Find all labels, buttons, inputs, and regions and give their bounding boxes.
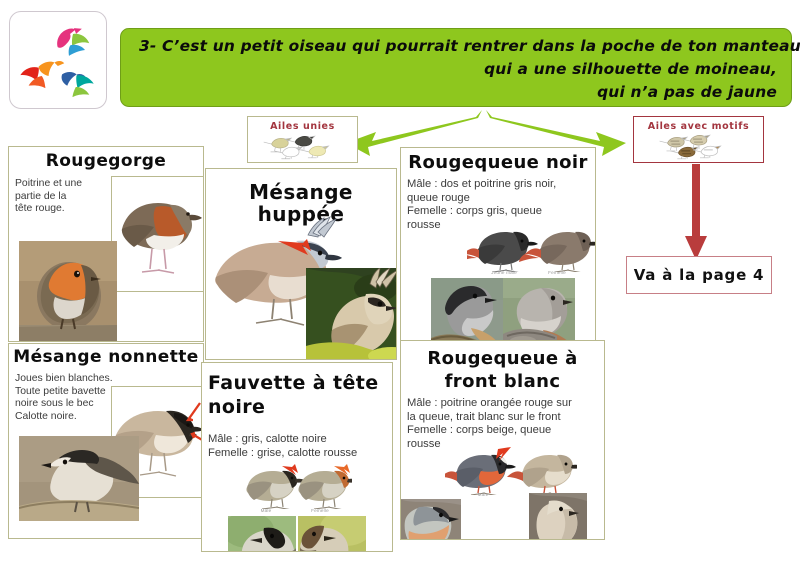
fauvette-male-photo	[228, 516, 296, 552]
fauvette-female-photo	[298, 516, 366, 552]
illustration-frame	[111, 176, 204, 292]
red-down-arrow	[683, 164, 709, 262]
species-description: Joues bien blanches. Toute petite bavett…	[15, 373, 125, 423]
rougegorge-photo	[19, 241, 117, 341]
illustration-label-male: Mâle	[248, 508, 284, 513]
category-ailes-unies[interactable]: Ailes unies	[247, 116, 358, 163]
patterned-wings-birds-icon	[634, 132, 763, 160]
hummingbird-logo-art	[10, 12, 106, 108]
illustration-label-femelle: Femelle	[535, 270, 579, 275]
species-title: Fauvette à tête noire	[202, 371, 392, 420]
species-title: Rougequeue noir	[401, 153, 595, 173]
species-title: Rougequeue à front blanc	[401, 347, 604, 394]
rougequeue-noir-male-photo	[431, 278, 503, 343]
rougequeue-noir-pair-illustration	[467, 224, 595, 272]
plain-wings-birds-icon	[248, 132, 357, 160]
species-photo-male	[400, 499, 461, 540]
illustration-pair	[242, 461, 352, 509]
species-photo	[306, 268, 397, 360]
riddle-line-1: 3- C’est un petit oiseau qui pourrait re…	[135, 35, 777, 58]
rougequeue-noir-female-photo	[503, 278, 575, 343]
species-photo	[19, 436, 139, 521]
species-title: Mésange nonnette	[9, 348, 203, 367]
species-photo	[19, 241, 117, 341]
species-photo-male	[228, 516, 296, 552]
hummingbird-logo	[9, 11, 107, 109]
category-label: Ailes avec motifs	[634, 121, 763, 132]
species-card-mesange-huppee[interactable]: Mésange huppée	[205, 168, 397, 360]
category-ailes-avec-motifs[interactable]: Ailes avec motifs	[633, 116, 764, 163]
category-label: Ailes unies	[248, 121, 357, 132]
riddle-line-3: qui n’a pas de jaune	[135, 81, 777, 104]
goto-page-4-label: Va à la page 4	[634, 266, 765, 284]
riddle-banner: 3- C’est un petit oiseau qui pourrait re…	[120, 28, 792, 107]
species-description: Poitrine et une partie de la tête rouge.	[15, 178, 111, 216]
illustration-label-jeune-male: Jeune mâle	[479, 270, 529, 275]
goto-page-4-box[interactable]: Va à la page 4	[626, 256, 772, 294]
fauvette-pair-illustration	[242, 461, 352, 509]
illustration-label-male: Mâle	[463, 492, 503, 497]
rougegorge-illustration	[112, 177, 204, 291]
species-photo-female	[298, 516, 366, 552]
rougequeue-front-blanc-pair-illustration	[445, 447, 577, 495]
species-card-fauvette-tete-noire[interactable]: Fauvette à tête noire Mâle : gris, calot…	[201, 362, 393, 552]
mesange-huppee-photo	[306, 268, 397, 360]
species-description: Mâle : gris, calotte noire Femelle : gri…	[208, 433, 392, 460]
species-card-mesange-nonnette[interactable]: Mésange nonnette Joues bien blanches. To…	[8, 343, 204, 539]
rqfb-female-photo	[529, 493, 587, 540]
species-photo-female	[503, 278, 575, 343]
riddle-line-2: qui a une silhouette de moineau,	[135, 58, 777, 81]
species-photo-male	[431, 278, 503, 343]
species-card-rougequeue-noir[interactable]: Rougequeue noir Mâle : dos et poitrine g…	[400, 147, 596, 343]
species-card-rougegorge[interactable]: Rougegorge Poitrine et une partie de la …	[8, 146, 204, 342]
rqfb-male-photo	[400, 499, 461, 540]
species-description: Mâle : poitrine orangée rouge sur la que…	[407, 397, 603, 451]
illustration-pair	[467, 224, 595, 272]
species-photo-female	[529, 493, 587, 540]
illustration-pair	[445, 447, 577, 495]
species-card-rougequeue-front-blanc[interactable]: Rougequeue à front blanc Mâle : poitrine…	[400, 340, 605, 540]
mesange-nonnette-photo	[19, 436, 139, 521]
species-title: Rougegorge	[9, 152, 203, 171]
illustration-label-female: Femelle	[300, 508, 340, 513]
